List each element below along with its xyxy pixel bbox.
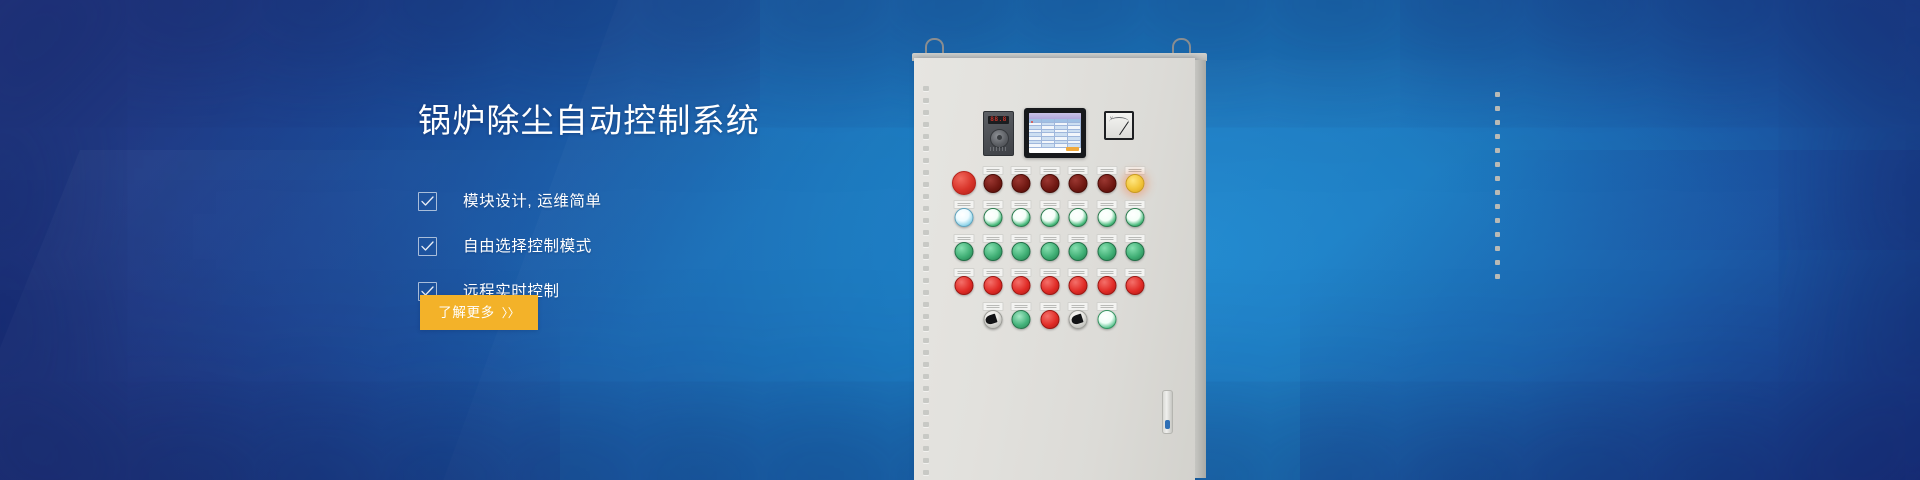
- analog-voltmeter: V: [1104, 111, 1134, 140]
- check-box-icon: [418, 237, 437, 256]
- stop-button[interactable]: [1097, 276, 1116, 295]
- start-button[interactable]: [1126, 242, 1145, 261]
- check-box-icon: [418, 192, 437, 211]
- feature-label: 自由选择控制模式: [463, 239, 592, 255]
- stop-button[interactable]: [983, 276, 1002, 295]
- fault-indicator-lamp[interactable]: [1069, 174, 1088, 193]
- indicator-button-grid: [950, 166, 1165, 336]
- status-indicator-lamp[interactable]: [1097, 310, 1116, 329]
- cabinet-door-handle[interactable]: [1162, 390, 1173, 434]
- start-button[interactable]: [983, 242, 1002, 261]
- stop-button[interactable]: [1069, 276, 1088, 295]
- hmi-power-led-icon: [1031, 121, 1033, 123]
- stop-button[interactable]: [1012, 276, 1031, 295]
- selector-knob[interactable]: [1069, 310, 1088, 329]
- lamp-row: [950, 234, 1165, 268]
- start-button[interactable]: [1097, 242, 1116, 261]
- hero-copy-block: 锅炉除尘自动控制系统 模块设计, 运维简单 自由选择控制模式: [418, 104, 888, 320]
- chevron-right-icon: 〉〉: [502, 307, 520, 319]
- page-title: 锅炉除尘自动控制系统: [418, 104, 888, 137]
- run-indicator-lamp[interactable]: [1126, 208, 1145, 227]
- lamp-row: [950, 166, 1165, 200]
- run-indicator-lamp[interactable]: [1012, 208, 1031, 227]
- hmi-touchscreen[interactable]: [1024, 108, 1086, 158]
- alarm-indicator-lamp[interactable]: [1126, 174, 1145, 193]
- stop-button[interactable]: [1126, 276, 1145, 295]
- fault-indicator-lamp[interactable]: [1040, 174, 1059, 193]
- vfd-display-value: 88.8: [990, 117, 1006, 123]
- lamp-row: [950, 302, 1165, 336]
- hero-banner: 锅炉除尘自动控制系统 模块设计, 运维简单 自由选择控制模式: [0, 0, 1920, 480]
- list-item: 自由选择控制模式: [418, 230, 888, 263]
- feature-label: 模块设计, 运维简单: [463, 194, 602, 210]
- vfd-display: 88.8: [988, 116, 1009, 124]
- start-button[interactable]: [1012, 310, 1031, 329]
- learn-more-label: 了解更多: [438, 306, 494, 320]
- hmi-screen-content: [1029, 113, 1081, 153]
- cabinet-right-side: [1195, 60, 1206, 478]
- emergency-stop-button[interactable]: [952, 171, 976, 195]
- cabinet-door-panel: 88.8: [914, 58, 1195, 480]
- learn-more-button[interactable]: 了解更多 〉〉: [420, 295, 538, 330]
- vfd-button-row[interactable]: [990, 147, 1007, 151]
- vfd-dial-knob[interactable]: [990, 129, 1009, 148]
- power-indicator-lamp[interactable]: [955, 208, 974, 227]
- start-button[interactable]: [955, 242, 974, 261]
- run-indicator-lamp[interactable]: [1040, 208, 1059, 227]
- stop-button[interactable]: [1040, 276, 1059, 295]
- voltmeter-face: V: [1106, 113, 1132, 138]
- lamp-row: [950, 268, 1165, 302]
- start-button[interactable]: [1012, 242, 1031, 261]
- cabinet-hinge-column-left: [923, 82, 929, 480]
- run-indicator-lamp[interactable]: [983, 208, 1002, 227]
- run-indicator-lamp[interactable]: [1069, 208, 1088, 227]
- run-indicator-lamp[interactable]: [1097, 208, 1116, 227]
- stop-button[interactable]: [955, 276, 974, 295]
- lamp-row: [950, 200, 1165, 234]
- vfd-keypad-module[interactable]: 88.8: [983, 111, 1014, 156]
- start-button[interactable]: [1069, 242, 1088, 261]
- control-cabinet-image: 88.8: [900, 38, 1230, 480]
- hmi-action-button[interactable]: [1066, 147, 1079, 151]
- stop-button[interactable]: [1040, 310, 1059, 329]
- fault-indicator-lamp[interactable]: [983, 174, 1002, 193]
- feature-list: 模块设计, 运维简单 自由选择控制模式 远程实时控制: [418, 185, 888, 308]
- list-item: 模块设计, 运维简单: [418, 185, 888, 218]
- fault-indicator-lamp[interactable]: [1012, 174, 1031, 193]
- selector-knob[interactable]: [983, 310, 1002, 329]
- start-button[interactable]: [1040, 242, 1059, 261]
- fault-indicator-lamp[interactable]: [1097, 174, 1116, 193]
